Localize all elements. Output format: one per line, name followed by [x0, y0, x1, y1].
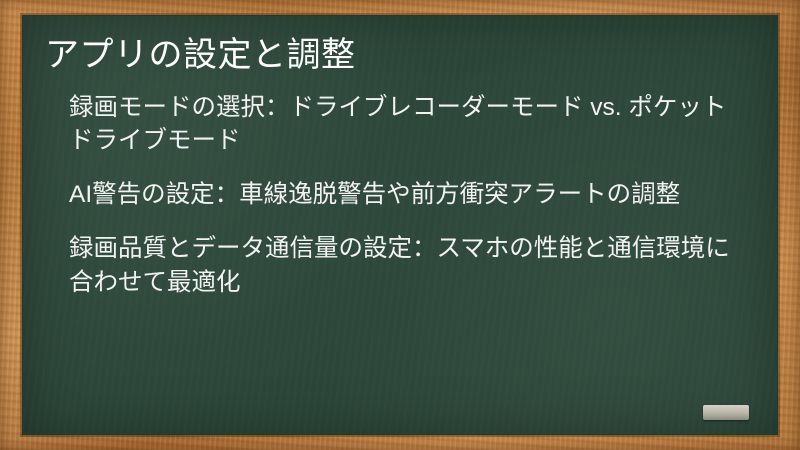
chalkboard-surface: アプリの設定と調整 録画モードの選択：ドライブレコーダーモード vs. ポケット…: [22, 15, 778, 435]
list-item: AI警告の設定：車線逸脱警告や前方衝突アラートの調整: [45, 178, 743, 212]
eraser-icon: [703, 405, 749, 420]
bullet-list: 録画モードの選択：ドライブレコーダーモード vs. ポケットドライブモード AI…: [45, 91, 743, 300]
chalkboard-slide: アプリの設定と調整 録画モードの選択：ドライブレコーダーモード vs. ポケット…: [0, 0, 800, 450]
list-item: 録画品質とデータ通信量の設定：スマホの性能と通信環境に合わせて最適化: [45, 232, 743, 300]
list-item: 録画モードの選択：ドライブレコーダーモード vs. ポケットドライブモード: [45, 91, 743, 159]
page-title: アプリの設定と調整: [45, 34, 743, 77]
slide-content: アプリの設定と調整 録画モードの選択：ドライブレコーダーモード vs. ポケット…: [23, 16, 777, 299]
